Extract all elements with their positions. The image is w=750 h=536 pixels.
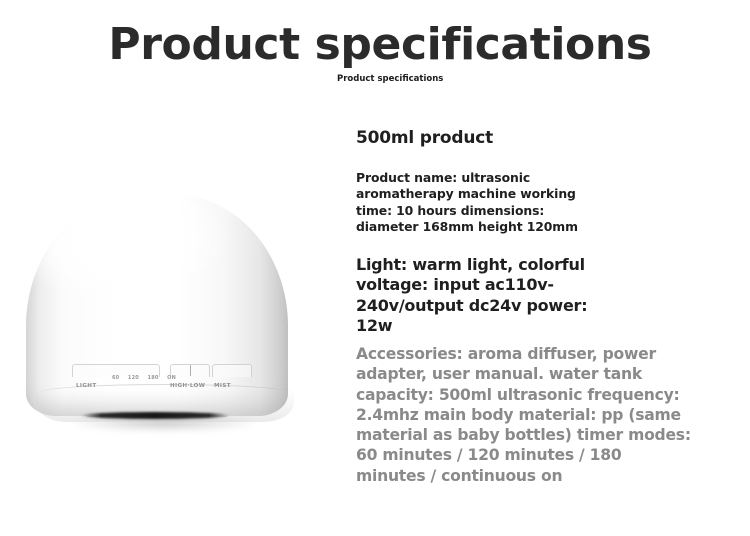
control-label-light: LIGHT	[76, 383, 96, 389]
timer-mark-row: 60 120 180 ON	[112, 375, 176, 381]
spec-heading: 500ml product	[356, 128, 656, 148]
timer-mark-120: 120	[128, 375, 139, 381]
product-control-strip: 60 120 180 ON LIGHT HIGH·LOW MIST	[70, 364, 252, 398]
control-segment-mist	[212, 364, 252, 377]
timer-mark-180: 180	[148, 375, 159, 381]
page-title: Product specifications	[0, 22, 750, 68]
control-tick	[190, 365, 191, 376]
product-base-gap	[80, 412, 230, 419]
timer-mark-on: ON	[167, 375, 176, 381]
control-label-mist: MIST	[214, 383, 231, 389]
spec-intro-text: Product name: ultrasonic aromatherapy ma…	[356, 170, 608, 236]
page-subtitle: Product specifications	[337, 74, 457, 85]
spec-accessories-text: Accessories: aroma diffuser, power adapt…	[356, 344, 696, 486]
control-label-high-low: HIGH·LOW	[170, 383, 205, 389]
timer-mark-60: 60	[112, 375, 119, 381]
product-image: 60 120 180 ON LIGHT HIGH·LOW MIST	[18, 188, 318, 448]
spec-power-text: Light: warm light, colorful voltage: inp…	[356, 255, 624, 337]
